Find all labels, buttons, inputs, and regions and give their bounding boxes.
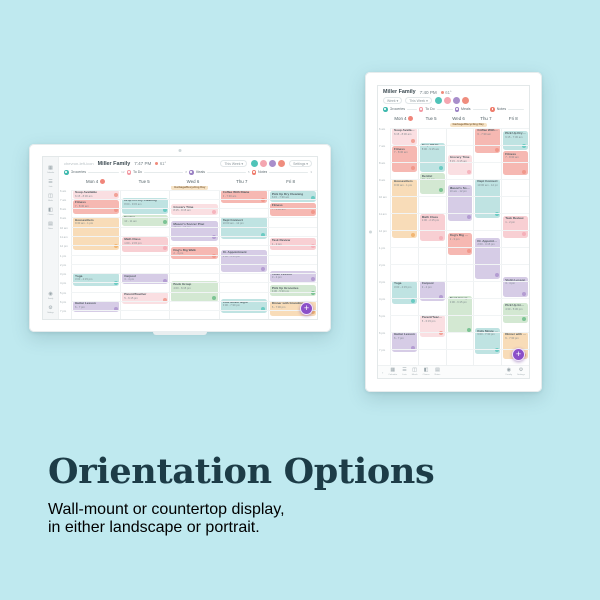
sidebar-item-label: Meals [48, 200, 53, 202]
event-avatar [522, 292, 526, 296]
sidebar-item-label: Lists [49, 186, 53, 188]
calendar-event[interactable]: Task Review1 - 2 pm [270, 238, 316, 250]
hour-line [71, 301, 317, 302]
event-time: 7 - 8:30 am [394, 151, 415, 154]
avatar[interactable] [462, 97, 469, 104]
list-count: 3 [310, 170, 312, 174]
event-time: 6:15 - 8:30 am [394, 133, 415, 136]
time-label: 3 pm [60, 272, 66, 276]
calendar-event[interactable]: Dr. Appointment2:00 - 4:15 pm [221, 250, 267, 272]
subcopy-line-2: in either landscape or portrait. [48, 519, 548, 537]
camera-dot-icon [369, 231, 372, 234]
avatar[interactable] [251, 160, 258, 167]
calendar-app-portrait: Miller Family 7:40 PM 61° Week ▾ This We… [378, 86, 529, 378]
hour-line [390, 179, 529, 180]
time-label: 7 pm [379, 348, 385, 352]
temperature-label: 61° [445, 90, 451, 95]
day-header-cell[interactable]: Wed 6 [169, 177, 218, 186]
calendar-event[interactable]: Drop Off Dry Cleaning8:00 - 9:15 am [122, 198, 168, 214]
calendar-event[interactable]: Grocery Time8:15 - 9:15 am [171, 204, 217, 215]
event-time: 2 - 3 pm [450, 238, 471, 241]
wall-mount-stand [153, 331, 207, 335]
time-label: 6 pm [379, 331, 385, 335]
event-avatar [439, 166, 443, 170]
event-time: 1 - 2 pm [505, 221, 526, 224]
day-header-cell[interactable]: Tue 5 [417, 114, 444, 123]
hour-line [71, 217, 317, 218]
list-bullet-icon [64, 170, 69, 175]
time-gutter: 6 am7 am8 am9 am10 am11 am12 pm1 pm2 pm3… [59, 190, 71, 320]
hour-line [71, 236, 317, 237]
day-header-cell[interactable]: Wed 6 [445, 114, 472, 123]
event-avatar [212, 210, 216, 214]
list-label: Groceries [390, 107, 406, 111]
chevron-left-icon[interactable]: ‹ [382, 370, 383, 375]
member-avatars [435, 97, 469, 104]
event-avatar [522, 317, 526, 321]
nav-item-notes[interactable]: ▤ Notes [435, 368, 441, 376]
calendar-event[interactable]: Dentist10 - 11 am [420, 173, 445, 193]
day-label: Mon 4 [86, 179, 98, 184]
day-header-cell[interactable]: Tue 5 [120, 177, 169, 186]
calendar-event[interactable]: Yoga3:00 - 4:15 pm [392, 281, 417, 305]
sidebar-item-label: Family [48, 298, 53, 300]
sun-icon [155, 162, 158, 165]
hour-line [390, 196, 529, 197]
calendar-event[interactable]: Mason's Soccer Prac10 am - 12 pm [448, 185, 473, 221]
list-bullet-icon [189, 170, 194, 175]
nav-item-label: Family [506, 374, 512, 376]
hour-line [390, 247, 529, 248]
time-label: 2 pm [60, 263, 66, 267]
event-avatar [212, 296, 216, 300]
event-time: 6 - 7:30 am [477, 133, 498, 136]
hour-line [390, 264, 529, 265]
calendar-event[interactable]: Fitness7 - 8:30 am [73, 200, 119, 214]
nav-item-calendar[interactable]: ▦ Calendar [388, 368, 397, 376]
event-avatar [411, 139, 415, 143]
avatar[interactable] [444, 97, 451, 104]
hour-line [71, 245, 317, 246]
today-badge [100, 179, 105, 184]
sidebar-item-family[interactable]: ◉ Family [45, 292, 56, 300]
calendar-event[interactable]: Yoga3:00 - 4:15 pm [73, 273, 119, 286]
event-time: 6:00 - 7:30 pm [477, 333, 498, 336]
event-time: 10 - 11 am [124, 220, 166, 223]
member-avatars [251, 160, 285, 167]
list-label: Notes [258, 170, 267, 174]
nav-item-label: Chores [423, 374, 430, 376]
list-item[interactable]: Notes [490, 107, 524, 112]
sidebar-item-label: Settings [47, 312, 53, 314]
nav-item-meals[interactable]: ◫ Meals [412, 368, 418, 376]
time-label: 7 pm [60, 309, 66, 313]
nav-item-settings[interactable]: ⚙ Settings [517, 368, 525, 376]
calendar-event[interactable]: Dog's Big Walk2 - 3 pm [448, 233, 473, 255]
nav-item-label: Lists [402, 374, 407, 376]
event-time: 6 - 7 pm [394, 337, 415, 340]
time-label: 11 am [60, 235, 68, 239]
list-bullet-icon [127, 170, 132, 175]
all-day-row: Garbage/Recycling Day [71, 186, 315, 190]
nav-item-label: Settings [517, 374, 525, 376]
headline: Orientation Options [48, 452, 548, 492]
clock-time: 7:47 PM [134, 161, 151, 166]
poster-stage: ▦ Calendar ☰ Lists ◫ Meals ◧ Chores [0, 0, 600, 600]
list-rule [88, 172, 119, 173]
hour-line [390, 128, 529, 129]
event-avatar [163, 246, 167, 250]
sun-icon [441, 91, 444, 94]
time-label: 8 am [379, 161, 385, 165]
calendar-event[interactable]: Pick Up Dry Cleaning6:15 - 7:30 am [503, 131, 528, 150]
today-badge [408, 116, 413, 121]
view-selector-button[interactable]: This Week ▾ [220, 160, 247, 167]
sidebar-item-chores[interactable]: ◧ Chores [45, 208, 56, 216]
time-label: 5 pm [60, 291, 66, 295]
time-label: 6 pm [60, 300, 66, 304]
day-header-cell[interactable]: Mon 4 [71, 177, 120, 186]
bottom-nav: ‹ ▦ Calendar ☰ Lists ◫ Meals ◧ [378, 365, 529, 378]
hour-line [390, 145, 529, 146]
temperature-label: 61° [160, 161, 166, 166]
sidebar-item-lists[interactable]: ☰ Lists [45, 180, 56, 188]
calendar-event[interactable]: Dentist10 - 11 am [122, 215, 168, 226]
event-avatar [261, 267, 265, 271]
time-label: 7 am [60, 198, 66, 202]
event-time: 9:30 am - 1 pm [75, 222, 117, 225]
calendar-event[interactable]: Soup Available6:15 - 8:30 am [392, 128, 417, 145]
event-time: 5 - 6:15 pm [422, 320, 443, 323]
device-landscape: ▦ Calendar ☰ Lists ◫ Meals ◧ Chores [29, 144, 331, 332]
calendar-grid-body: 6 am7 am8 am9 am10 am11 am12 pm1 pm2 pm3… [59, 190, 317, 320]
time-label: 11 am [379, 212, 387, 216]
list-rule [269, 172, 308, 173]
list-item[interactable]: Meals 5 [189, 170, 250, 175]
hour-line [71, 264, 317, 265]
list-rule [508, 109, 524, 110]
event-time: 10:00 am - 12 pm [223, 222, 265, 225]
add-event-fab[interactable]: + [512, 348, 525, 361]
lists-icon: ☰ [48, 180, 52, 185]
time-label: 4 pm [379, 297, 385, 301]
hour-line [71, 227, 317, 228]
hour-line [390, 315, 529, 316]
all-day-row: Garbage/Recycling Day [390, 123, 527, 128]
list-rule [207, 172, 246, 173]
event-time: 4:30 - 5:30 pm [505, 308, 526, 311]
sidebar-item-meals[interactable]: ◫ Meals [45, 194, 56, 202]
hour-line [71, 310, 317, 311]
nav-item-label: Notes [435, 374, 441, 376]
calendar-event[interactable]: Math Class1:00 - 2:15 pm [420, 214, 445, 241]
calendar-event[interactable]: Grocery Time8:15 - 9:15 am [448, 155, 473, 175]
event-time: 6 - 7:30 am [223, 195, 265, 198]
list-filter-row: Groceries 12 To Do 8 Meals [59, 169, 317, 177]
event-time: 4:00 - 6:15 pm [450, 301, 471, 304]
event-time: 3 - 4 pm [124, 278, 166, 281]
hour-line [71, 282, 317, 283]
event-avatar [495, 148, 499, 152]
clock-time: 7:40 PM [420, 90, 437, 95]
list-item[interactable]: To Do 8 [127, 170, 188, 175]
weather-widget: 61° [441, 90, 452, 95]
week-view-button[interactable]: Week ▾ [383, 97, 402, 104]
sidebar-item-settings[interactable]: ⚙ Settings [45, 306, 56, 314]
event-time: 8:15 - 9:15 am [173, 209, 215, 212]
nav-item-chores[interactable]: ◧ Chores [423, 368, 430, 376]
sidebar-item-label: Calendar [47, 172, 54, 174]
chores-icon: ◧ [48, 208, 53, 213]
app-header: Miller Family 7:40 PM 61° Week ▾ This We… [378, 86, 529, 106]
hour-line [390, 298, 529, 299]
list-bullet-icon [383, 107, 388, 112]
family-icon: ◉ [507, 368, 511, 373]
list-rule [473, 109, 489, 110]
event-avatar [411, 299, 415, 303]
hour-line [71, 273, 317, 274]
calendar-event[interactable]: Coffee With Diana6 - 7:30 am [221, 190, 267, 204]
event-avatar [311, 277, 315, 281]
time-label: 6 am [379, 127, 385, 131]
meals-icon: ◫ [412, 368, 417, 373]
camera-dot-icon [179, 149, 182, 152]
event-avatar [411, 233, 415, 237]
sidebar-rail: ▦ Calendar ☰ Lists ◫ Meals ◧ Chores [43, 157, 59, 319]
time-label: 1 pm [379, 246, 385, 250]
list-rule [437, 109, 453, 110]
event-time: 6 - 7:30 pm [505, 337, 526, 340]
time-label: 9 am [60, 216, 66, 220]
add-event-fab[interactable]: + [300, 302, 313, 315]
list-bullet-icon [490, 107, 495, 112]
day-header-cell[interactable]: Mon 4 [390, 114, 417, 123]
hour-line [390, 281, 529, 282]
sidebar-item-notes[interactable]: ▤ Notes [45, 222, 56, 230]
time-label: 7 am [379, 144, 385, 148]
list-label: Meals [196, 170, 206, 174]
event-avatar [467, 170, 471, 174]
event-time: 3 - 4 pm [272, 276, 314, 279]
time-label: 6 am [60, 189, 66, 193]
event-time: 3:00 - 4:15 pm [394, 286, 415, 289]
avatar[interactable] [435, 97, 442, 104]
calendar-event[interactable]: Task Review1 - 2 pm [503, 216, 528, 238]
hour-line [390, 213, 529, 214]
gear-icon: ⚙ [48, 306, 52, 311]
page-title: Miller Family [98, 161, 131, 167]
event-time: 3:00 - 4:15 pm [75, 278, 117, 281]
hour-line [390, 349, 529, 350]
hour-line [390, 162, 529, 163]
calendar-event[interactable]: Drop Off Dry Cleaning8:00 - 9:15 am [420, 143, 445, 172]
list-count: 8 [185, 170, 187, 174]
event-avatar [439, 188, 443, 192]
nav-item-label: Calendar [388, 374, 397, 376]
day-columns: Soup Available6:15 - 8:30 amFitness7 - 8… [71, 190, 317, 320]
time-label: 5 pm [379, 314, 385, 318]
calendar-icon: ▦ [390, 368, 395, 373]
day-columns: Soup Available6:15 - 8:30 amFitness7 - 8… [390, 128, 529, 366]
event-avatar [411, 166, 415, 170]
list-label: Groceries [71, 170, 87, 174]
list-filter-row: Groceries To Do Meals [378, 106, 529, 114]
event-avatar [522, 232, 526, 236]
day-header-cell[interactable]: Fri 8 [500, 114, 527, 123]
weather-widget: 61° [155, 161, 166, 166]
day-header-row: Mon 4 Tue 5 Wed 6 Thu 7 Fri 8 [59, 177, 317, 186]
header-row-two: Week ▾ This Week ▾ [383, 97, 524, 104]
list-count: 5 [248, 170, 250, 174]
calendar-event[interactable]: Fitness7 - 8:30 am [503, 151, 528, 175]
event-time: 8:00 - 9:15 am [124, 203, 166, 206]
time-label: 4 pm [60, 281, 66, 285]
hour-line [71, 199, 317, 200]
event-time: 3 - 4 pm [422, 286, 443, 289]
calendar-event[interactable]: Pick Up Dry Cleaning6:15 - 7:30 am [270, 191, 316, 201]
event-avatar [522, 170, 526, 174]
list-label: Meals [461, 107, 471, 111]
event-time: 8:00 - 9:15 am [422, 148, 443, 151]
time-label: 9 am [379, 178, 385, 182]
hour-line [71, 208, 317, 209]
calendar-event[interactable]: Dr. Appointment2:00 - 4:15 pm [475, 238, 500, 279]
list-rule [407, 109, 417, 110]
list-item[interactable]: Meals [455, 107, 489, 112]
app-header: chevron-left-icon Miller Family 7:47 PM … [59, 157, 317, 169]
subcopy-line-1: Wall-mount or countertop display, [48, 501, 548, 519]
hour-line [390, 332, 529, 333]
list-item[interactable]: Groceries 12 [64, 170, 125, 175]
calendar-event[interactable]: Pick Up Groceries4:30 - 5:30 pm [503, 303, 528, 323]
event-time: 1:00 - 2:15 pm [422, 219, 443, 222]
list-item[interactable]: Notes 3 [252, 170, 313, 175]
list-count: 12 [121, 170, 124, 174]
nav-item-lists[interactable]: ☰ Lists [402, 368, 407, 376]
sidebar-item-calendar[interactable]: ▦ Calendar [45, 166, 56, 174]
notes-icon: ▤ [435, 368, 440, 373]
event-avatar [114, 193, 118, 197]
event-time: 4:00 - 6:15 pm [173, 287, 215, 290]
hour-line [71, 292, 317, 293]
list-bullet-icon [419, 107, 424, 112]
event-time: 6:15 - 7:30 am [505, 136, 526, 139]
event-avatar [439, 236, 443, 240]
event-avatar [311, 210, 315, 214]
device-screen-landscape: ▦ Calendar ☰ Lists ◫ Meals ◧ Chores [42, 156, 318, 320]
device-screen-portrait: Miller Family 7:40 PM 61° Week ▾ This We… [377, 85, 530, 379]
hour-line [390, 230, 529, 231]
calendar-event[interactable]: Coffee With Diana6 - 7:30 am [475, 128, 500, 154]
calendar-event[interactable]: Soup Available6:15 - 8:30 am [73, 190, 119, 199]
settings-button[interactable]: Settings ▾ [289, 160, 312, 167]
event-avatar [467, 249, 471, 253]
list-label: To Do [425, 107, 434, 111]
event-time: 6:15 - 8:30 am [75, 195, 117, 198]
time-label: 12 pm [379, 229, 387, 233]
calendar-event[interactable]: Mason's Soccer Prac10 am - 12 pm [171, 221, 217, 241]
calendar-grid-body: 6 am7 am8 am9 am10 am11 am12 pm1 pm2 pm3… [378, 128, 529, 366]
gear-icon: ⚙ [519, 368, 523, 373]
hour-line [71, 255, 317, 256]
list-bullet-icon [455, 107, 460, 112]
lists-icon: ☰ [402, 368, 406, 373]
time-label: 10 am [60, 226, 68, 230]
calendar-event[interactable]: Parent/Teacher5 - 6:15 pm [420, 315, 445, 337]
list-bullet-icon [252, 170, 257, 175]
device-portrait: Miller Family 7:40 PM 61° Week ▾ This We… [365, 72, 542, 392]
calendar-event[interactable]: Fitness7 - 8:30 am [392, 146, 417, 172]
notes-icon: ▤ [48, 222, 53, 227]
event-time: 10:00 am - 12 pm [477, 184, 498, 187]
time-label: 8 am [60, 207, 66, 211]
page-title: Miller Family [383, 89, 416, 95]
copy-block: Orientation Options Wall-mount or counte… [48, 452, 548, 553]
all-day-event[interactable]: Garbage/Recycling Day [450, 123, 487, 128]
day-header-cell[interactable]: Fri 8 [266, 177, 315, 186]
calendar-event[interactable]: Dog's Big Walk2 - 3 pm [171, 247, 217, 259]
day-header-cell[interactable]: Thu 7 [472, 114, 499, 123]
calendar-app-landscape: ▦ Calendar ☰ Lists ◫ Meals ◧ Chores [43, 157, 317, 319]
all-day-event[interactable]: Garbage/Recycling Day [171, 186, 208, 190]
family-icon: ◉ [48, 292, 52, 297]
event-time: 5 - 6:15 pm [124, 297, 166, 300]
list-label: To Do [133, 170, 142, 174]
time-label: 1 pm [60, 254, 66, 258]
time-label: 10 am [379, 195, 387, 199]
event-avatar [467, 215, 471, 219]
time-label: 2 pm [379, 263, 385, 267]
avatar[interactable] [269, 160, 276, 167]
day-label: Mon 4 [394, 116, 406, 121]
view-selector-button[interactable]: This Week ▾ [405, 97, 432, 104]
event-time: 7 - 8:30 am [505, 156, 526, 159]
event-time: 6:00 - 7:30 pm [223, 304, 265, 307]
event-time: 9:30 am - 1 pm [394, 184, 415, 187]
avatar[interactable] [260, 160, 267, 167]
event-avatar [495, 273, 499, 277]
sidebar-item-label: Chores [48, 214, 54, 216]
list-label: Notes [497, 107, 506, 111]
avatar[interactable] [278, 160, 285, 167]
list-rule [144, 172, 183, 173]
day-header-cell[interactable]: Thu 7 [217, 177, 266, 186]
avatar[interactable] [453, 97, 460, 104]
app-main-landscape: chevron-left-icon Miller Family 7:47 PM … [59, 157, 317, 319]
calendar-grid-landscape[interactable]: 6 am7 am8 am9 am10 am11 am12 pm1 pm2 pm3… [59, 186, 317, 320]
event-avatar [163, 220, 167, 224]
event-time: 6 - 7 pm [75, 306, 117, 309]
event-time: 10 am - 12 pm [450, 190, 471, 193]
day-header-row: Mon 4 Tue 5 Wed 6 Thu 7 Fri 8 [378, 114, 529, 123]
calendar-icon: ▦ [48, 166, 53, 171]
calendar-grid-portrait[interactable]: 6 am7 am8 am9 am10 am11 am12 pm1 pm2 pm3… [378, 123, 529, 366]
app-main-portrait: Miller Family 7:40 PM 61° Week ▾ This We… [378, 86, 529, 365]
list-item[interactable]: To Do [419, 107, 453, 112]
nav-item-family[interactable]: ◉ Family [506, 368, 512, 376]
meals-icon: ◫ [48, 194, 53, 199]
chevron-left-icon[interactable]: chevron-left-icon [64, 161, 94, 166]
nav-item-label: Meals [412, 374, 418, 376]
time-gutter: 6 am7 am8 am9 am10 am11 am12 pm1 pm2 pm3… [378, 128, 390, 366]
event-time: 3 - 4 pm [505, 282, 526, 285]
time-label: 3 pm [379, 280, 385, 284]
list-item[interactable]: Groceries [383, 107, 417, 112]
sidebar-item-label: Notes [48, 228, 53, 230]
chores-icon: ◧ [424, 368, 429, 373]
time-label: 12 pm [60, 244, 68, 248]
